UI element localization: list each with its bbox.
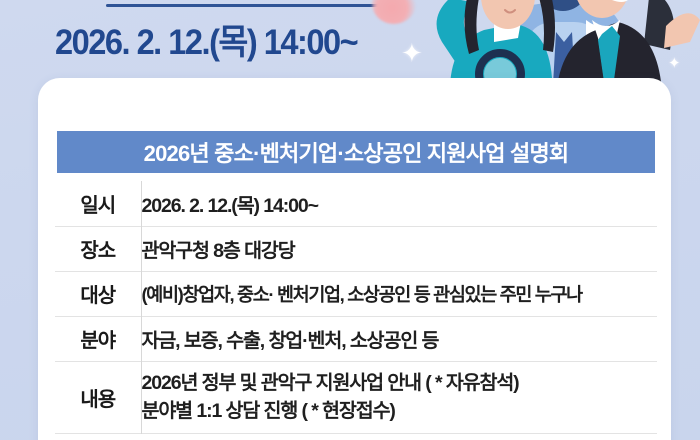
card-title-bar: 2026년 중소·벤처기업·소상공인 지원사업 설명회 (57, 131, 655, 173)
sparkle-icon: ✦ (401, 40, 423, 66)
row-label-target: 대상 (55, 271, 141, 316)
table-row: 일시 2026. 2. 12.(목) 14:00~ (55, 181, 657, 226)
row-label-field: 분야 (55, 316, 141, 361)
row-value-content: 2026년 정부 및 관악구 지원사업 안내 ( * 자유참석) 분야별 1:1… (141, 361, 657, 433)
headline-date: 2026. 2. 12.(목) 14:00~ (55, 14, 357, 65)
card-title-text: 2026년 중소·벤처기업·소상공인 지원사업 설명회 (144, 136, 569, 168)
sparkle-icon: ✦ (648, 10, 657, 21)
sparkle-icon: ✦ (668, 56, 681, 71)
pink-blob-decoration (372, 0, 416, 24)
table-row: 분야 자금, 보증, 수출, 창업·벤처, 소상공인 등 (55, 316, 657, 361)
row-value-field: 자금, 보증, 수출, 창업·벤처, 소상공인 등 (141, 316, 657, 361)
row-value-datetime: 2026. 2. 12.(목) 14:00~ (141, 181, 657, 226)
content-line-1: 2026년 정부 및 관악구 지원사업 안내 ( * 자유참석) (142, 372, 658, 394)
table-row: 내용 2026년 정부 및 관악구 지원사업 안내 ( * 자유참석) 분야별 … (55, 361, 657, 433)
row-label-location: 장소 (55, 226, 141, 271)
info-card: 2026년 중소·벤처기업·소상공인 지원사업 설명회 일시 2026. 2. … (38, 78, 671, 440)
row-value-target: (예비)창업자, 중소· 벤처기업, 소상공인 등 관심있는 주민 누구나 (141, 271, 657, 316)
row-value-location: 관악구청 8층 대강당 (141, 226, 657, 271)
event-info-table: 일시 2026. 2. 12.(목) 14:00~ 장소 관악구청 8층 대강당… (55, 181, 657, 434)
poster-canvas: ✦ ✦ (0, 0, 700, 440)
table-row: 대상 (예비)창업자, 중소· 벤처기업, 소상공인 등 관심있는 주민 누구나 (55, 271, 657, 316)
row-label-datetime: 일시 (55, 181, 141, 226)
content-line-2: 분야별 1:1 상담 진행 ( * 현장접수) (142, 400, 658, 422)
row-label-content: 내용 (55, 361, 141, 433)
top-divider-rule (106, 4, 382, 7)
sparkle-icon: ✦ (482, 0, 493, 9)
table-row: 장소 관악구청 8층 대강당 (55, 226, 657, 271)
